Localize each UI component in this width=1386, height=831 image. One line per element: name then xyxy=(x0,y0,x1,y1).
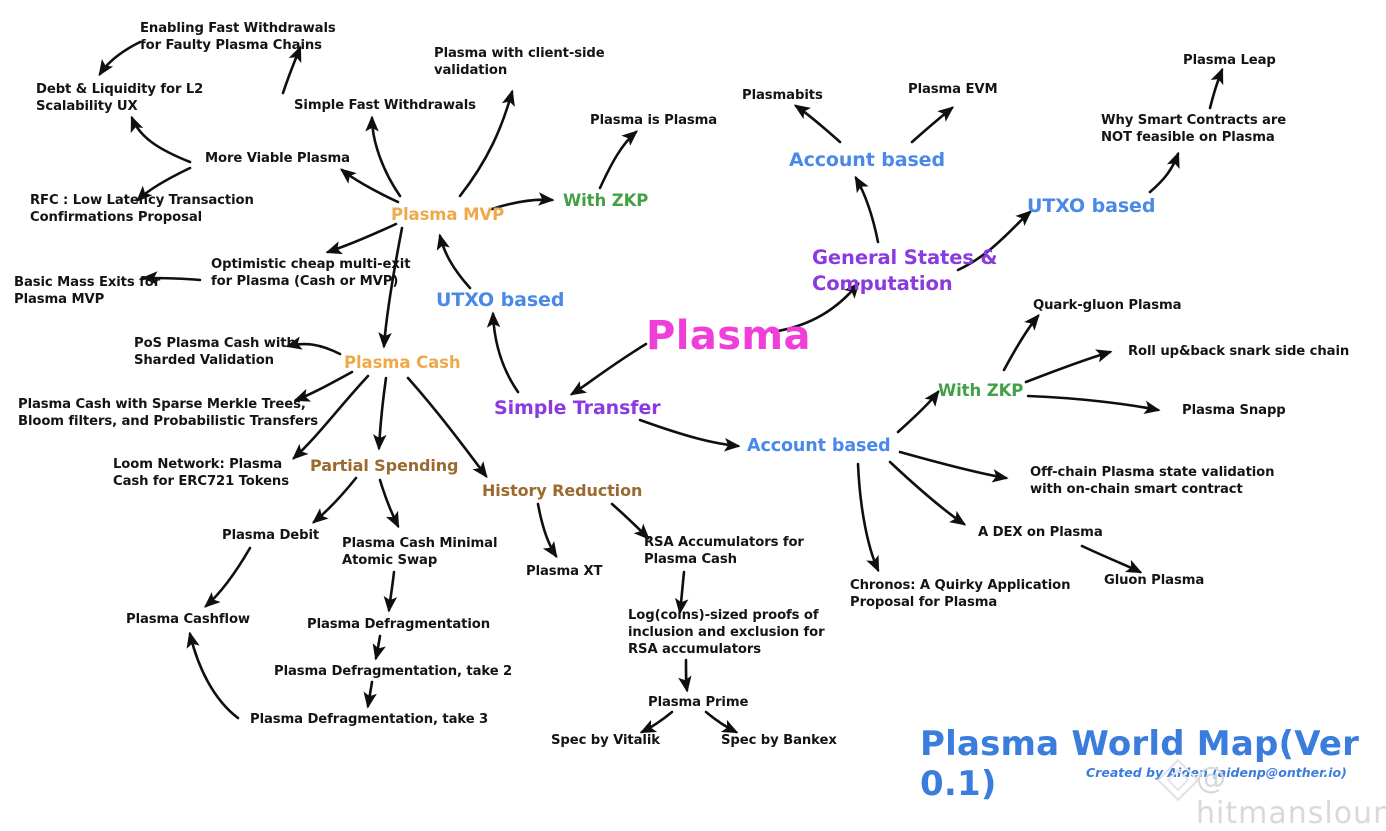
leaf-plasma-evm[interactable]: Plasma EVM xyxy=(908,81,998,98)
leaf-roll-up-back-snark-side-chain[interactable]: Roll up&back snark side chain xyxy=(1128,343,1349,360)
leaf-plasma-xt[interactable]: Plasma XT xyxy=(526,563,602,580)
leaf-plasma-prime[interactable]: Plasma Prime xyxy=(648,694,748,711)
leaf-plasma-leap[interactable]: Plasma Leap xyxy=(1183,52,1276,69)
branch-history-reduction[interactable]: History Reduction xyxy=(482,481,642,502)
branch-plasma-cash[interactable]: Plasma Cash xyxy=(344,352,461,373)
mindmap-canvas: Plasma Plasma MVP With ZKP UTXO based Pl… xyxy=(0,0,1386,799)
branch-account-based-mid[interactable]: Account based xyxy=(747,435,891,458)
leaf-rsa-accumulators[interactable]: RSA Accumulators for Plasma Cash xyxy=(644,534,804,568)
leaf-plasma-cash-minimal-atomic-swap[interactable]: Plasma Cash Minimal Atomic Swap xyxy=(342,535,497,569)
leaf-plasma-cashflow[interactable]: Plasma Cashflow xyxy=(126,611,250,628)
leaf-a-dex-on-plasma[interactable]: A DEX on Plasma xyxy=(978,524,1103,541)
leaf-log-coins-sized-proofs[interactable]: Log(coins)-sized proofs of inclusion and… xyxy=(628,607,825,658)
leaf-chronos-quirky-application[interactable]: Chronos: A Quirky Application Proposal f… xyxy=(850,577,1070,611)
branch-with-zkp-left[interactable]: With ZKP xyxy=(563,190,648,211)
leaf-gluon-plasma[interactable]: Gluon Plasma xyxy=(1104,572,1204,589)
leaf-plasma-snapp[interactable]: Plasma Snapp xyxy=(1182,402,1286,419)
leaf-plasma-is-plasma[interactable]: Plasma is Plasma xyxy=(590,112,717,129)
leaf-quark-gluon-plasma[interactable]: Quark-gluon Plasma xyxy=(1033,297,1181,314)
leaf-sparse-merkle-trees[interactable]: Plasma Cash with Sparse Merkle Trees, Bl… xyxy=(18,396,318,430)
branch-simple-transfer[interactable]: Simple Transfer xyxy=(494,396,661,421)
watermark-text: @ hitmanslounge xyxy=(1196,761,1386,831)
branch-plasma-mvp[interactable]: Plasma MVP xyxy=(391,204,504,225)
leaf-plasma-defragmentation-take-2[interactable]: Plasma Defragmentation, take 2 xyxy=(274,663,512,680)
leaf-plasma-client-side-validation[interactable]: Plasma with client-side validation xyxy=(434,45,605,79)
leaf-plasma-defragmentation-take-3[interactable]: Plasma Defragmentation, take 3 xyxy=(250,711,488,728)
leaf-loom-network[interactable]: Loom Network: Plasma Cash for ERC721 Tok… xyxy=(113,456,289,490)
branch-utxo-based-left[interactable]: UTXO based xyxy=(436,288,564,313)
leaf-rfc-low-latency[interactable]: RFC : Low Latency Transaction Confirmati… xyxy=(30,192,254,226)
leaf-more-viable-plasma[interactable]: More Viable Plasma xyxy=(205,150,350,167)
leaf-enabling-fast-withdrawals[interactable]: Enabling Fast Withdrawals for Faulty Pla… xyxy=(140,20,336,54)
leaf-spec-by-bankex[interactable]: Spec by Bankex xyxy=(721,732,837,749)
leaf-off-chain-plasma-state-validation[interactable]: Off-chain Plasma state validation with o… xyxy=(1030,464,1274,498)
leaf-optimistic-cheap-multiexit[interactable]: Optimistic cheap multi-exit for Plasma (… xyxy=(211,256,410,290)
leaf-why-smart-contracts[interactable]: Why Smart Contracts are NOT feasible on … xyxy=(1101,112,1286,146)
leaf-plasmabits[interactable]: Plasmabits xyxy=(742,87,823,104)
branch-utxo-based-right[interactable]: UTXO based xyxy=(1027,194,1155,219)
leaf-simple-fast-withdrawals[interactable]: Simple Fast Withdrawals xyxy=(294,97,476,114)
leaf-pos-plasma-cash[interactable]: PoS Plasma Cash with Sharded Validation xyxy=(134,335,296,369)
branch-general-states-computation[interactable]: General States & Computation xyxy=(812,245,997,298)
branch-account-based-top[interactable]: Account based xyxy=(789,148,945,173)
branch-partial-spending[interactable]: Partial Spending xyxy=(310,456,458,477)
branch-with-zkp-right[interactable]: With ZKP xyxy=(938,380,1023,401)
leaf-debt-liquidity-l2[interactable]: Debt & Liquidity for L2 Scalability UX xyxy=(36,81,203,115)
leaf-plasma-debit[interactable]: Plasma Debit xyxy=(222,527,319,544)
leaf-plasma-defragmentation[interactable]: Plasma Defragmentation xyxy=(307,616,490,633)
leaf-spec-by-vitalik[interactable]: Spec by Vitalik xyxy=(551,732,660,749)
center-node-plasma[interactable]: Plasma xyxy=(646,310,811,362)
leaf-basic-mass-exits[interactable]: Basic Mass Exits for Plasma MVP xyxy=(14,274,160,308)
